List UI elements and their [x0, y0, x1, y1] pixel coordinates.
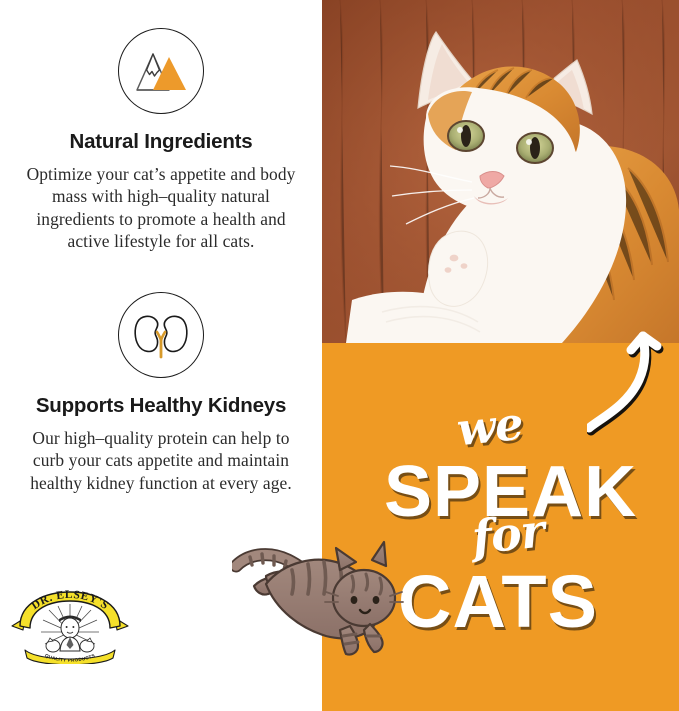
kidneys-icon-svg	[130, 309, 192, 361]
mountain-icon	[118, 28, 204, 114]
slogan-panel: we SPEAK for CATS	[322, 343, 679, 711]
leaping-tabby-cat-icon	[232, 526, 407, 656]
mountain-icon-svg	[131, 43, 191, 99]
leaping-tabby-cat-svg	[232, 526, 407, 656]
cat-photo-svg	[322, 0, 679, 343]
curved-up-arrow-icon	[587, 318, 679, 438]
slogan-line-for: for	[469, 503, 546, 564]
slogan-line-speak: SPEAK	[384, 451, 637, 533]
curved-up-arrow-svg	[587, 318, 679, 438]
feature-natural-ingredients: Natural Ingredients Optimize your cat’s …	[0, 28, 322, 253]
feature-body: Our high–quality protein can help to cur…	[20, 427, 302, 495]
brand-logo: DR. ELSEY'S QUALITY PRODUCTS	[9, 588, 131, 664]
promo-graphic: Natural Ingredients Optimize your cat’s …	[0, 0, 679, 711]
feature-title: Supports Healthy Kidneys	[0, 395, 322, 418]
feature-body: Optimize your cat’s appetite and body ma…	[20, 163, 302, 254]
slogan-line-we: we	[454, 397, 525, 457]
feature-supports-healthy-kidneys: Supports Healthy Kidneys Our high–qualit…	[0, 292, 322, 494]
slogan-line-cats: CATS	[398, 559, 598, 644]
kidneys-icon	[118, 292, 204, 378]
cat-photo	[322, 0, 679, 343]
feature-title: Natural Ingredients	[0, 131, 322, 154]
dr-elseys-logo-svg: DR. ELSEY'S QUALITY PRODUCTS	[9, 588, 131, 664]
